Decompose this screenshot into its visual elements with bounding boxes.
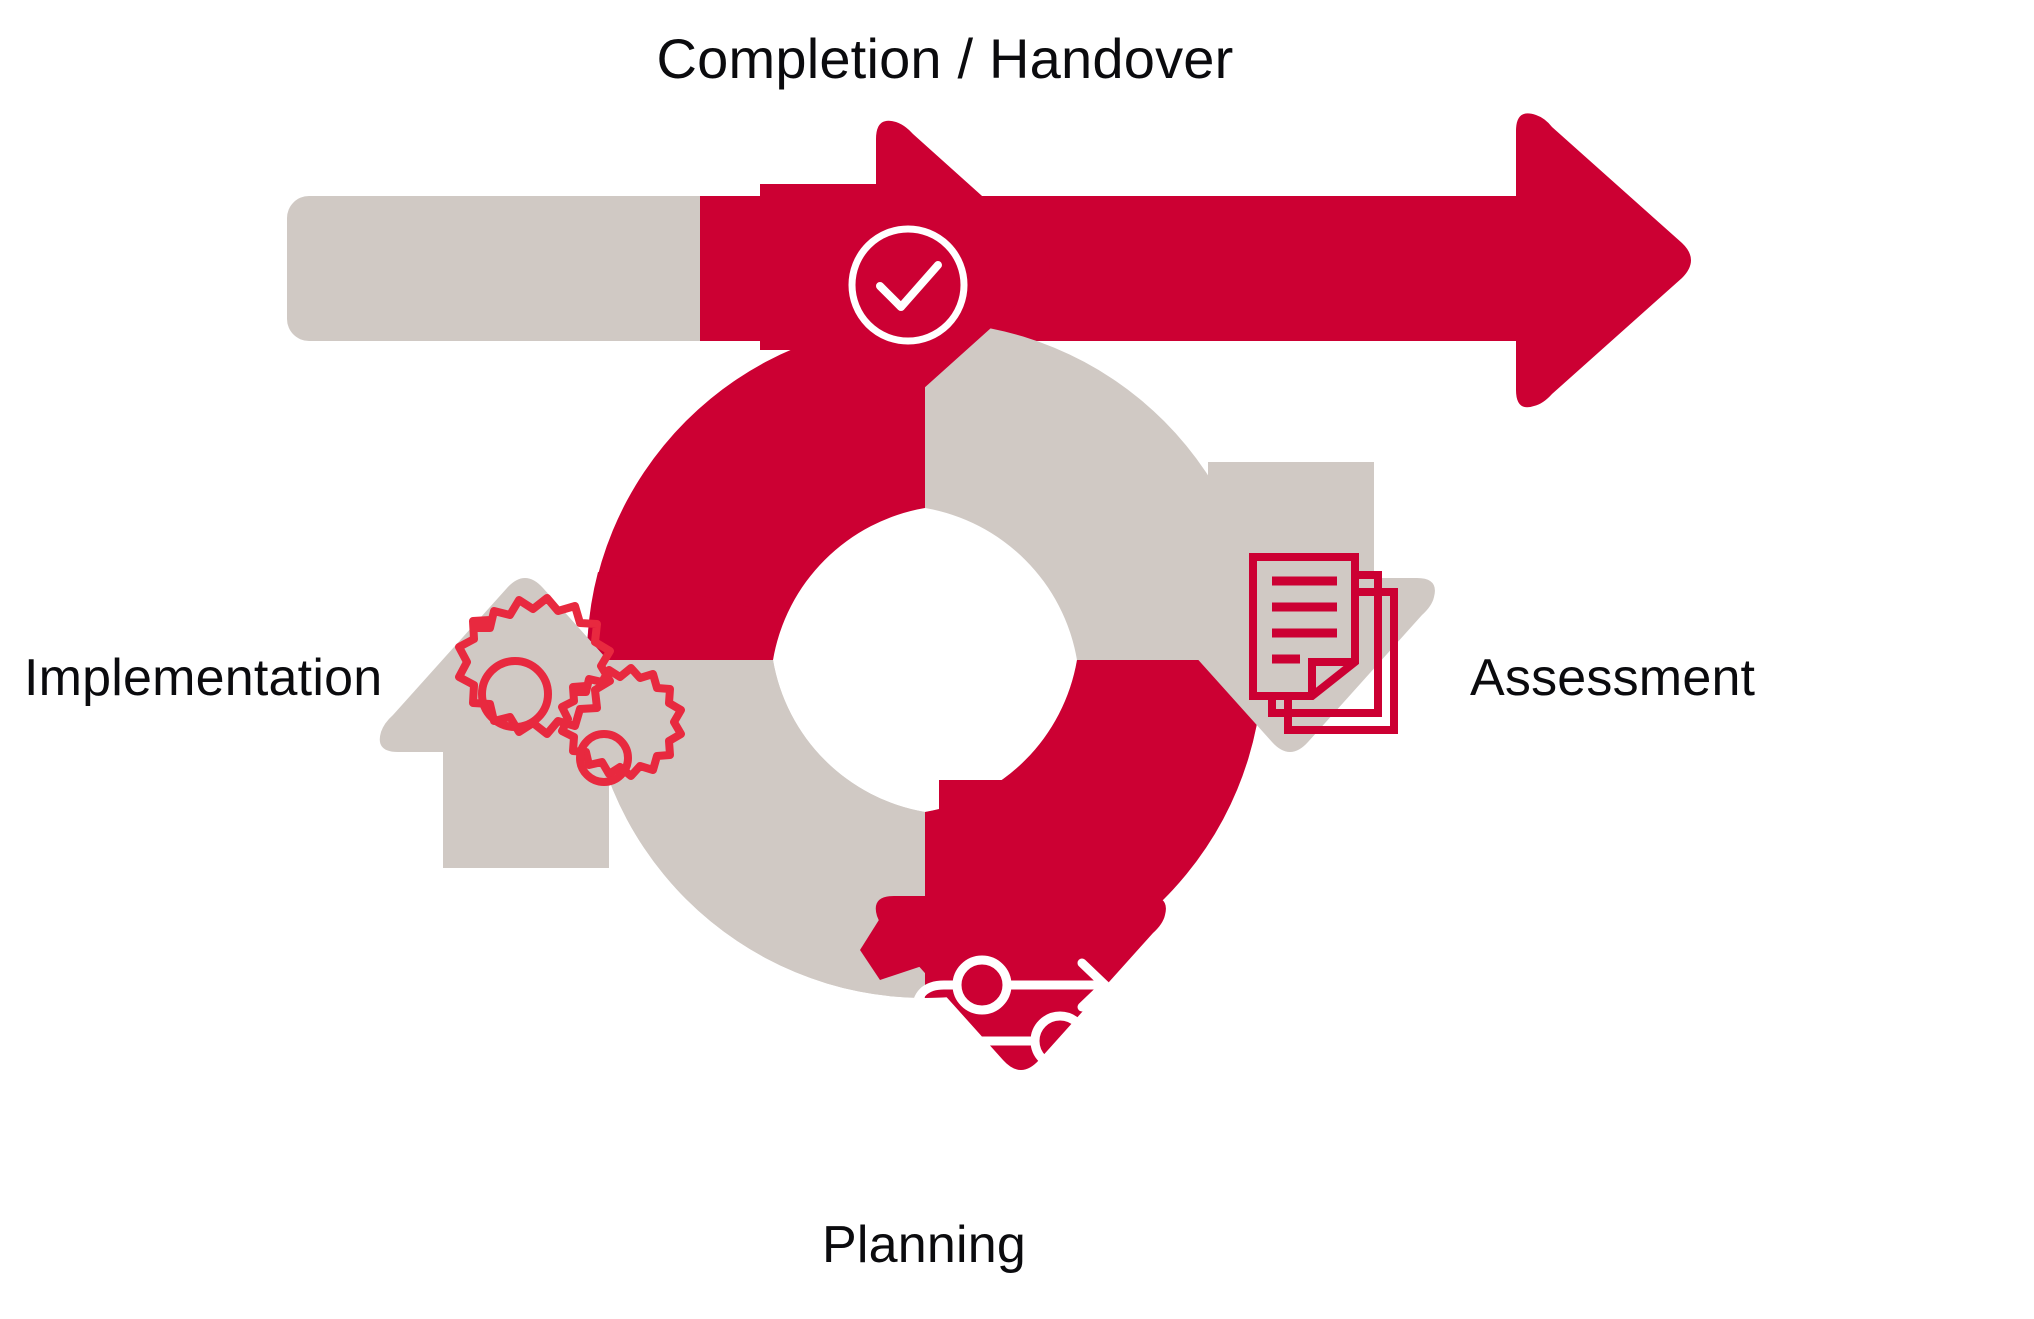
label-assessment: Assessment [1470, 648, 1755, 708]
label-completion-handover: Completion / Handover [0, 26, 1962, 91]
label-planning: Planning [822, 1215, 1026, 1275]
label-implementation: Implementation [24, 648, 382, 708]
workflow-icon [916, 960, 1126, 1122]
diagram-canvas: Completion / Handover Implementation Ass… [0, 0, 2034, 1319]
